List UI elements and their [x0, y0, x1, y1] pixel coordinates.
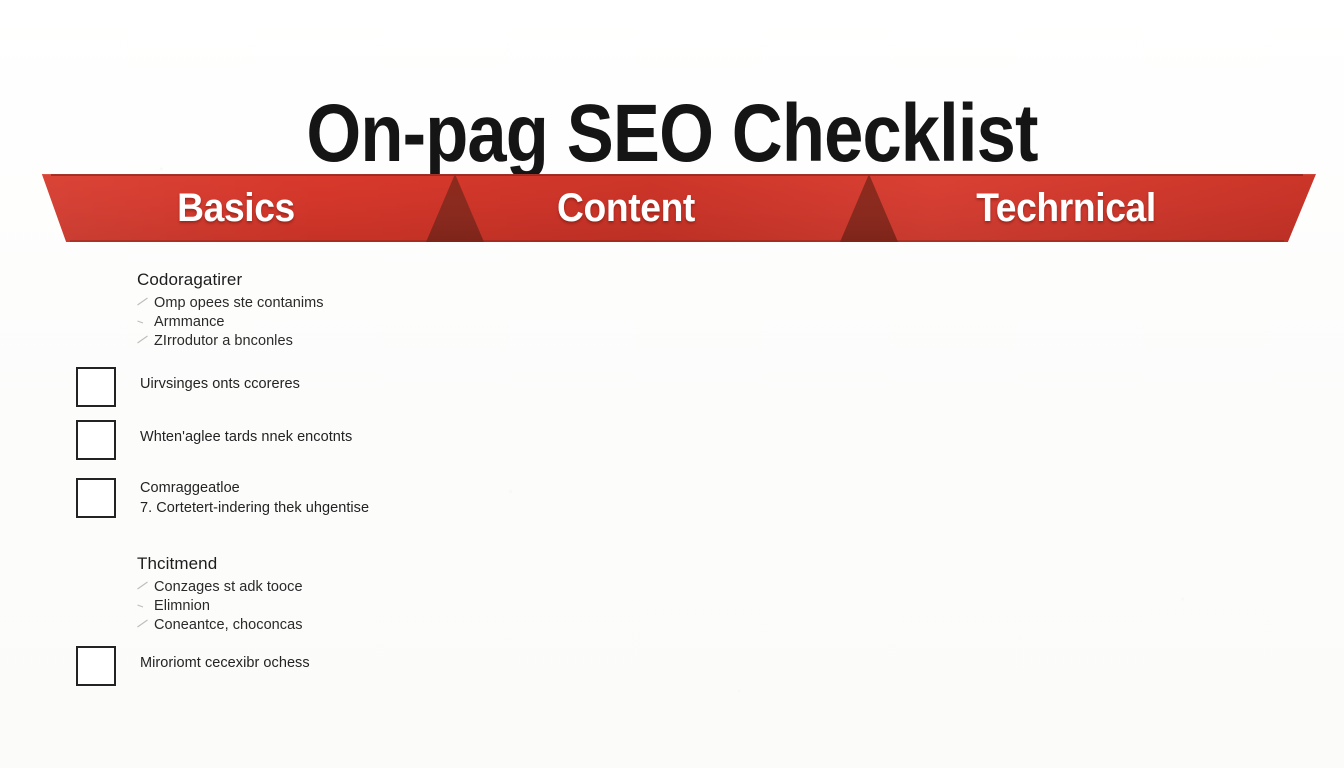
banner-tab-basics[interactable]: Basics [69, 188, 404, 228]
list-item-label: ZIrrodutor a bnconles [154, 333, 293, 349]
list-item: Conzages st adk tooce [137, 578, 303, 597]
checkbox-label: Whten'aglee tards nnek encotnts [140, 427, 352, 447]
checklist-checkbox-row[interactable]: Whten'aglee tards nnek encotnts [76, 420, 352, 460]
checkbox-label: Uirvsinges onts ccoreres [140, 374, 300, 394]
page-title: On-pag SEO Checklist [94, 93, 1250, 175]
banner-tab-technical[interactable]: Techrnical [871, 188, 1262, 228]
checkbox-input[interactable] [76, 367, 116, 407]
list-item-label: Coneantce, choconcas [154, 617, 303, 633]
banner-tab-content[interactable]: Content [431, 188, 822, 228]
list-item-label: Armmance [154, 314, 225, 330]
checklist-checkbox-row[interactable]: Comraggeatloe 7. Cortetert-indering thek… [76, 478, 369, 518]
checkbox-input[interactable] [76, 478, 116, 518]
checkmark-icon [137, 335, 148, 346]
checkmark-icon [137, 297, 148, 308]
list-item-label: Elimnion [154, 598, 210, 614]
checkmark-icon [137, 619, 148, 630]
list-item: Coneantce, choconcas [137, 616, 303, 635]
checkmark-icon [137, 600, 148, 611]
checkmark-icon [137, 316, 148, 327]
checklist-group-2: Thcitmend Conzages st adk tooce Elimnion [137, 554, 303, 635]
checkbox-label-group: Comraggeatloe 7. Cortetert-indering thek… [140, 478, 369, 518]
checkbox-label: Comraggeatloe [140, 480, 240, 496]
checklist-checkbox-row[interactable]: Uirvsinges onts ccoreres [76, 367, 300, 407]
checkbox-sublabel: 7. Cortetert-indering thek uhgentise [140, 498, 369, 518]
section-banner: Basics Content Techrnical [38, 174, 1316, 242]
checkbox-label: Miroriomt cecexibr ochess [140, 653, 310, 673]
checkbox-input[interactable] [76, 420, 116, 460]
group-sub-list: Conzages st adk tooce Elimnion Coneantce… [137, 578, 303, 635]
checkmark-icon [137, 581, 148, 592]
checkbox-input[interactable] [76, 646, 116, 686]
list-item: Omp opees ste contanims [137, 294, 324, 313]
group-sub-list: Omp opees ste contanims Armmance ZIrrodu… [137, 294, 324, 351]
list-item-label: Omp opees ste contanims [154, 295, 324, 311]
list-item-label: Conzages st adk tooce [154, 579, 303, 595]
list-item: ZIrrodutor a bnconles [137, 332, 324, 351]
list-item: Elimnion [137, 597, 303, 616]
checklist-checkbox-row[interactable]: Miroriomt cecexibr ochess [76, 646, 310, 686]
list-item: Armmance [137, 313, 324, 332]
banner-label-row: Basics Content Techrnical [38, 174, 1316, 242]
group-heading: Codoragatirer [137, 270, 324, 290]
seo-checklist-page: On-pag SEO Checklist Basics Content Tech… [0, 0, 1344, 768]
group-heading: Thcitmend [137, 554, 303, 574]
checklist-group-1: Codoragatirer Omp opees ste contanims Ar… [137, 270, 324, 351]
